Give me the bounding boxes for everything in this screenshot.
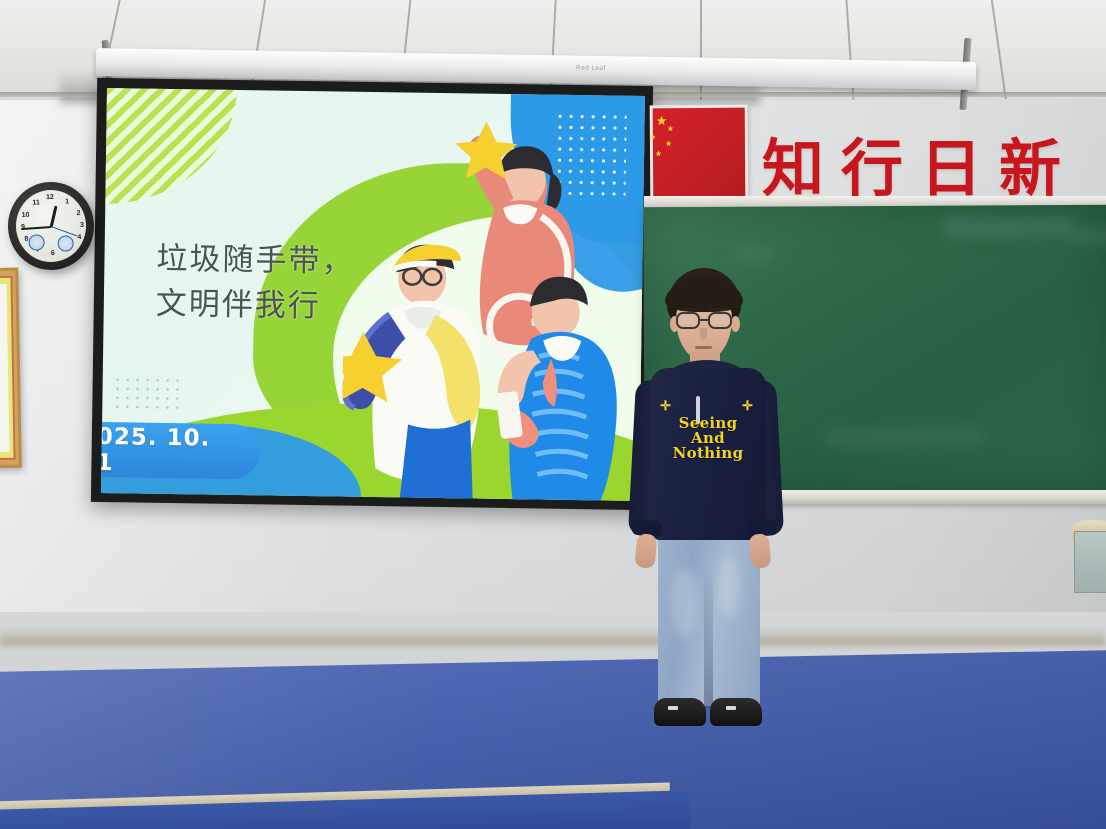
wall-motto-text: 知行日新 — [762, 118, 1078, 208]
student-hand-left — [635, 533, 658, 569]
slide-date-dots-icon — [112, 375, 178, 410]
classroom-photo-scene: Red Leaf — [0, 0, 1106, 829]
clock-hour-hand — [50, 206, 58, 228]
slide-striped-corner — [103, 88, 237, 206]
student-brow-right — [709, 308, 727, 311]
eyeglasses-right-lens — [708, 312, 732, 329]
hoodie-plus-icon-right: ✛ — [742, 398, 753, 414]
slide-date-text: 2025. 10. 21 — [101, 423, 240, 477]
eyeglasses-left-lens — [676, 312, 700, 329]
poster-mat — [0, 276, 16, 460]
wall-mounted-box — [1074, 531, 1106, 593]
flag-frame: ★ ★ ★ ★ ★ — [650, 105, 749, 203]
student-nose — [700, 328, 707, 340]
hoodie-graphic-text: Seeing And Nothing — [650, 416, 766, 461]
clock-numeral-6: 6 — [48, 250, 58, 257]
student-shoe-right — [710, 698, 762, 726]
clock-numeral-11: 11 — [31, 199, 41, 206]
screen-brand-logo: Red Leaf — [576, 65, 606, 72]
baseboard-grime — [0, 628, 1106, 646]
slide-title-line2: 文明伴我行 — [155, 282, 416, 331]
student-presenter: ✛ ✛ Seeing And Nothing — [610, 268, 800, 746]
hoodie-text-line3: Nothing — [650, 446, 766, 461]
clock-numeral-1: 1 — [62, 198, 72, 205]
student-brow-left — [680, 308, 698, 311]
student-hand-right — [749, 533, 772, 569]
clock-numeral-10: 10 — [20, 212, 30, 219]
eyeglasses-bridge — [700, 319, 708, 321]
hoodie-plus-icon-left: ✛ — [660, 398, 671, 414]
slide-date-badge: 2025. 10. 21 — [101, 422, 260, 480]
framed-wall-poster — [0, 268, 22, 469]
presentation-slide: 垃圾随手带， 文明伴我行 2025. 10. 21 — [101, 88, 645, 501]
clock-numeral-3: 3 — [77, 222, 87, 229]
clock-numeral-12: 12 — [45, 194, 55, 201]
clock-face: 12 1 2 3 4 5 6 7 8 9 10 11 — [15, 189, 87, 263]
student-ear-right — [731, 316, 740, 332]
chinese-national-flag-icon: ★ ★ ★ ★ ★ — [653, 108, 746, 200]
poster-paper — [0, 284, 9, 452]
student-mouth — [695, 346, 712, 349]
projection-screen[interactable]: 垃圾随手带， 文明伴我行 2025. 10. 21 — [91, 78, 653, 510]
slide-title-line1: 垃圾随手带， — [156, 237, 417, 286]
slide-title: 垃圾随手带， 文明伴我行 — [155, 237, 416, 331]
clock-numeral-2: 2 — [73, 210, 83, 217]
student-jeans-gap — [704, 568, 713, 708]
student-shoe-left — [654, 698, 706, 726]
